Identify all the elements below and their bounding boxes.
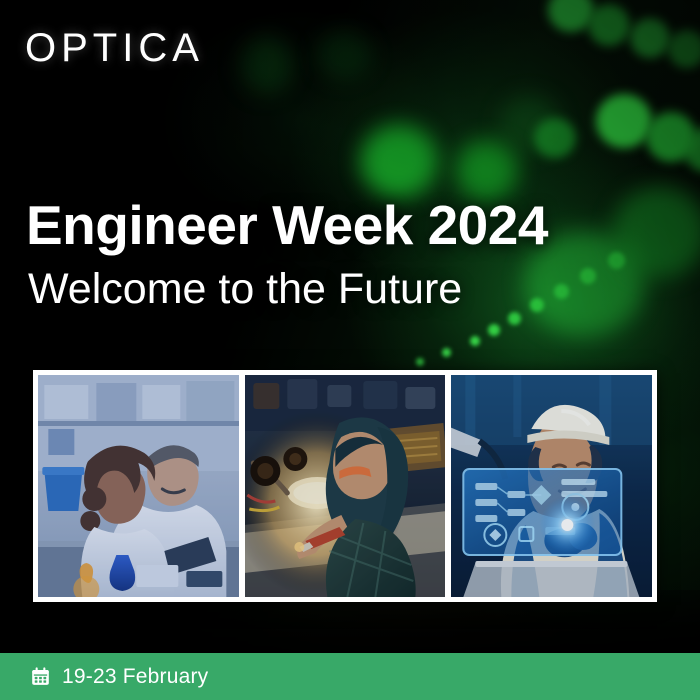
page-title: Engineer Week 2024 <box>26 196 548 255</box>
date-footer: 19-23 February <box>0 653 700 700</box>
event-poster: OPTICA Engineer Week 2024 Welcome to the… <box>0 0 700 700</box>
calendar-icon <box>30 666 51 687</box>
photo-holographic-interface <box>451 375 652 597</box>
optica-logo: OPTICA <box>25 28 204 68</box>
page-subtitle: Welcome to the Future <box>28 266 462 313</box>
event-date-range: 19-23 February <box>62 666 208 687</box>
photo-lab-researchers <box>38 375 239 597</box>
photo-electronics-bench <box>245 375 446 597</box>
photo-strip <box>33 370 657 602</box>
